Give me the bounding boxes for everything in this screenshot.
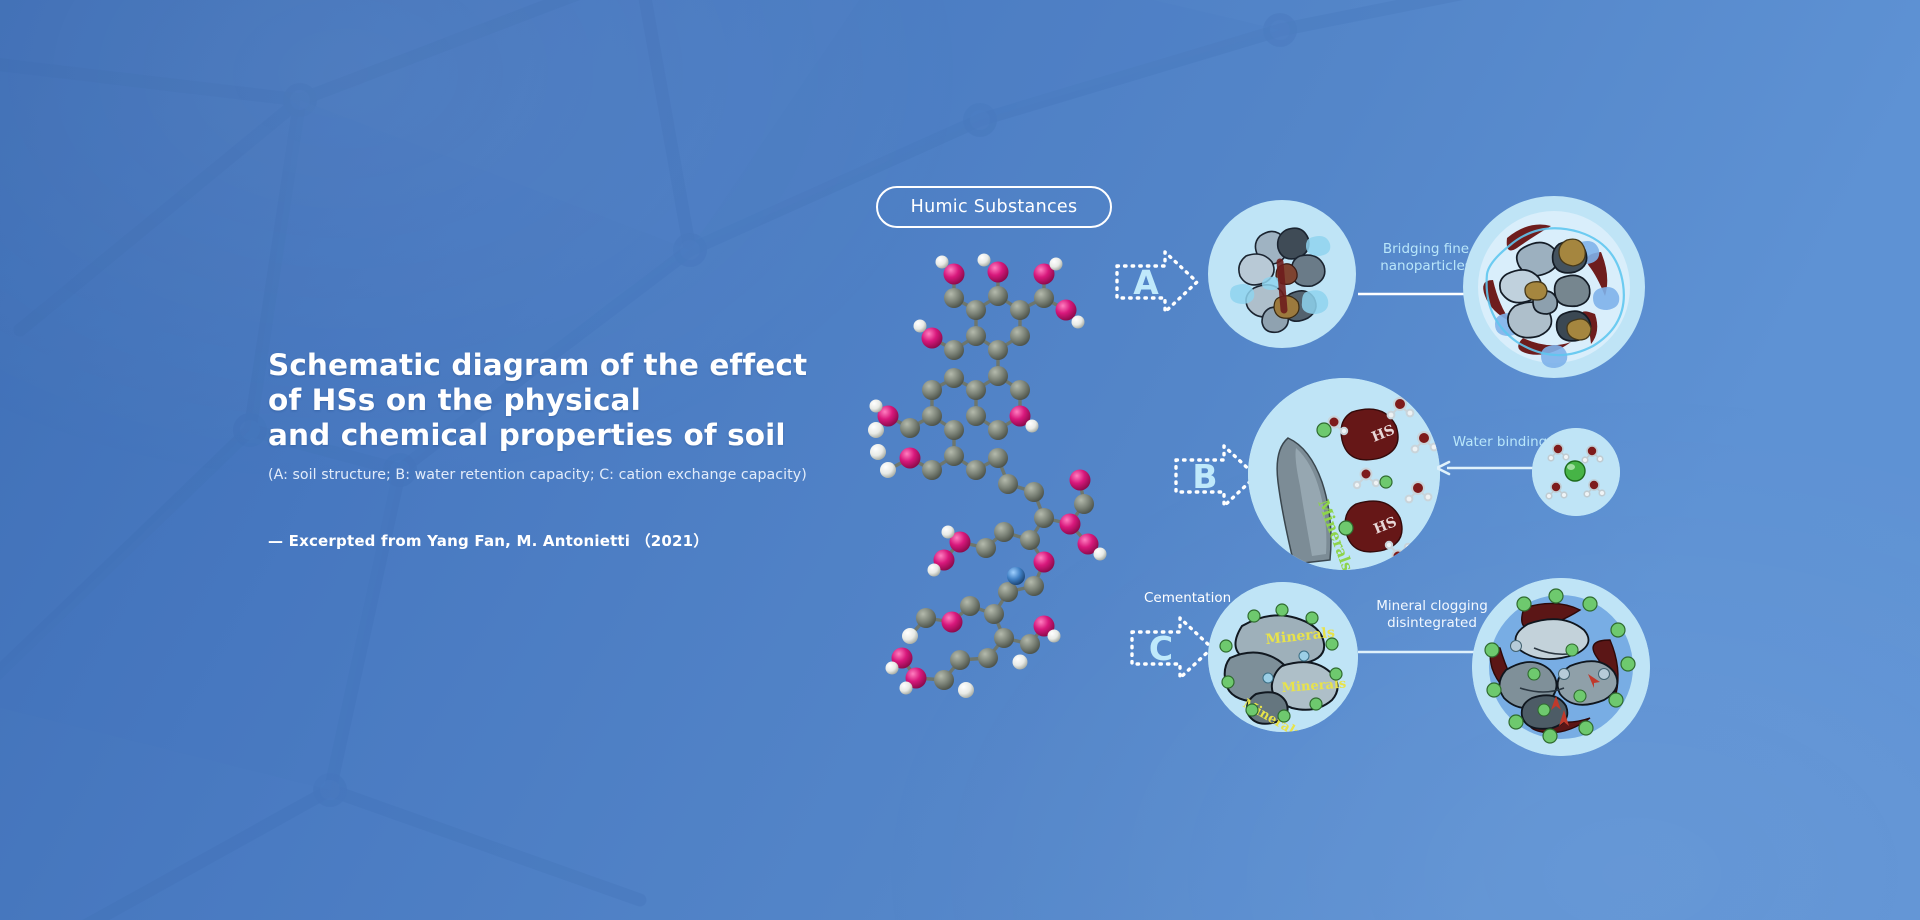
- hydrated-cation-illustration: [1532, 428, 1620, 516]
- row-c-left-circle: Minerals Minerals Minerals: [1208, 582, 1358, 732]
- row-b-marker-letter: B: [1172, 442, 1238, 510]
- page-title: Schematic diagram of the effect of HSs o…: [268, 348, 908, 453]
- humic-substances-label-text: Humic Substances: [911, 197, 1078, 217]
- row-b-marker: B: [1172, 442, 1260, 510]
- row-b-left-circle: Minerals HS HS: [1248, 378, 1440, 570]
- row-c-marker: C: [1128, 614, 1216, 682]
- attribution: — Excerpted from Yang Fan, M. Antonietti…: [268, 530, 908, 551]
- humic-mineral-water-complex-illustration: Minerals HS HS: [1248, 378, 1440, 570]
- row-a-left-circle: [1208, 200, 1356, 348]
- row-a-marker-letter: A: [1113, 248, 1179, 316]
- row-c-marker-letter: C: [1128, 614, 1194, 682]
- row-c-right-circle: [1472, 578, 1650, 756]
- humic-substances-label: Humic Substances: [876, 186, 1112, 228]
- aggregated-soil-particles-illustration: [1463, 196, 1645, 378]
- text-block: Schematic diagram of the effect of HSs o…: [268, 348, 908, 551]
- page-subtitle: (A: soil structure; B: water retention c…: [268, 465, 908, 485]
- loose-soil-particles-illustration: [1208, 200, 1356, 348]
- row-a-marker: A: [1113, 248, 1201, 316]
- infographic-canvas: Schematic diagram of the effect of HSs o…: [0, 0, 1920, 920]
- row-c-cementation-label: Cementation: [1144, 590, 1231, 606]
- cemented-mineral-clog-illustration: Minerals Minerals Minerals: [1208, 582, 1358, 732]
- disintegrated-minerals-illustration: [1472, 578, 1650, 756]
- row-a-right-circle: [1463, 196, 1645, 378]
- row-b-right-circle: [1532, 428, 1620, 516]
